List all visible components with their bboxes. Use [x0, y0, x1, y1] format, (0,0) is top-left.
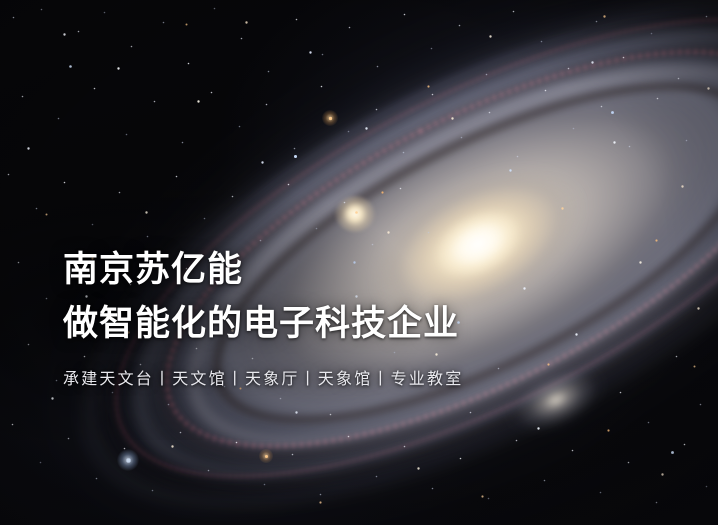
hero-subtitle: 承建天文台丨天文馆丨天象厅丨天象馆丨专业教室: [63, 368, 663, 392]
companion-galaxy-m32: [335, 196, 375, 232]
headline-line-1: 南京苏亿能: [63, 244, 663, 296]
headline-line-2: 做智能化的电子科技企业: [63, 298, 663, 350]
hero-copy: 南京苏亿能 做智能化的电子科技企业 承建天文台丨天文馆丨天象厅丨天象馆丨专业教室: [63, 244, 663, 392]
hero-banner: 南京苏亿能 做智能化的电子科技企业 承建天文台丨天文馆丨天象厅丨天象馆丨专业教室: [0, 0, 718, 525]
